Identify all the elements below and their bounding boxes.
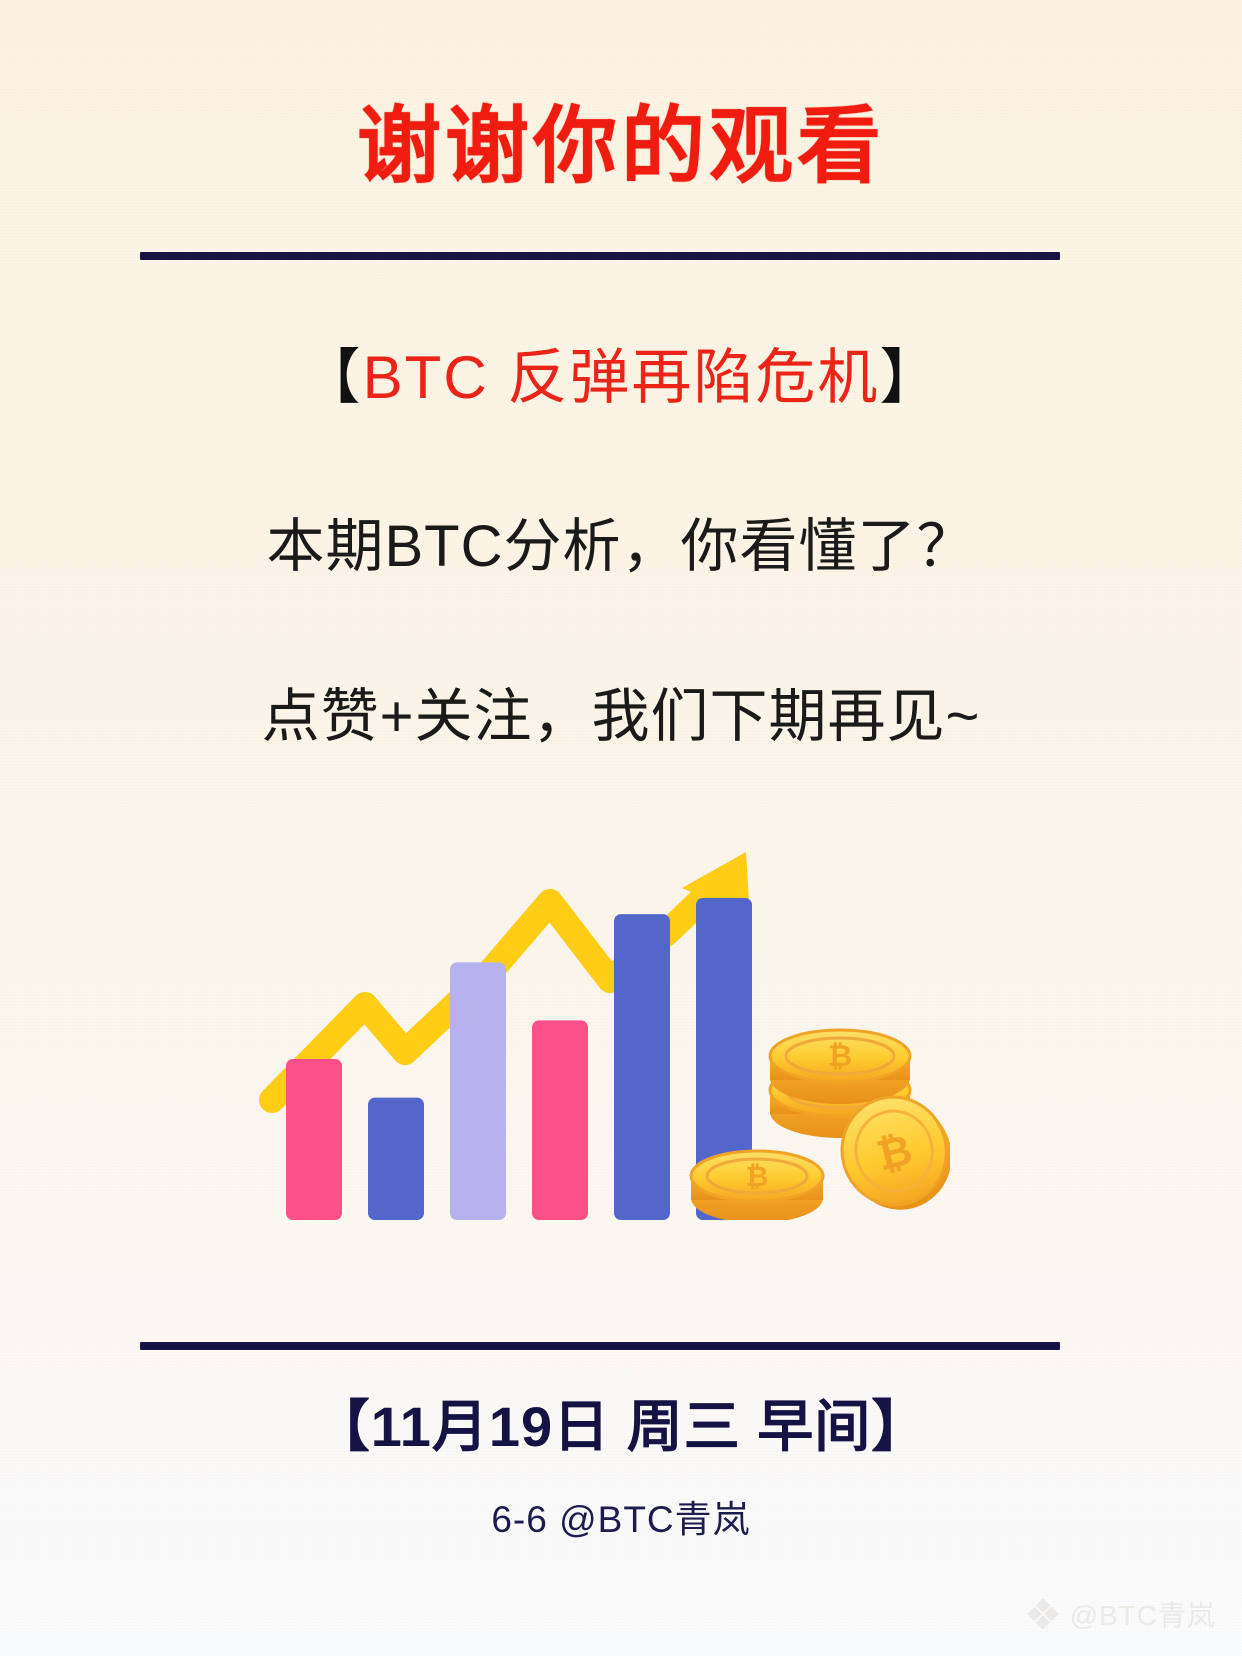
divider-top: [140, 252, 1060, 260]
watermark: @BTC青岚: [1026, 1594, 1216, 1634]
subhead: 【BTC 反弹再陷危机】: [0, 346, 1242, 409]
body-line-1: 本期BTC分析，你看懂了？: [0, 515, 1242, 579]
diamond-cluster-logo-icon: [1026, 1597, 1060, 1631]
bar-1: [286, 1059, 342, 1220]
bar-4: [532, 1020, 588, 1220]
subhead-accent-text: BTC 反弹再陷危机: [363, 344, 880, 411]
bracket-open: 【: [301, 344, 363, 411]
body-line-2: 点赞+关注，我们下期再见~: [0, 685, 1242, 749]
growth-chart-illustration: ₿ ₿ ₿: [250, 790, 950, 1220]
footer-date: 【11月19日 周三 早间】: [0, 1382, 1242, 1463]
page-title: 谢谢你的观看: [0, 104, 1242, 188]
watermark-text: @BTC青岚: [1070, 1594, 1216, 1634]
bracket-close: 】: [879, 344, 941, 411]
bar-2: [368, 1098, 424, 1220]
bar-3: [450, 962, 506, 1220]
divider-bottom: [140, 1342, 1060, 1350]
svg-text:₿: ₿: [828, 1040, 852, 1073]
svg-text:₿: ₿: [746, 1161, 769, 1192]
footer-handle: 6-6 @BTC青岚: [0, 1489, 1242, 1543]
poster-canvas: 谢谢你的观看 【BTC 反弹再陷危机】 本期BTC分析，你看懂了？ 点赞+关注，…: [0, 0, 1242, 1656]
trend-arrow-icon: [272, 852, 750, 1100]
bar-5: [614, 914, 670, 1220]
